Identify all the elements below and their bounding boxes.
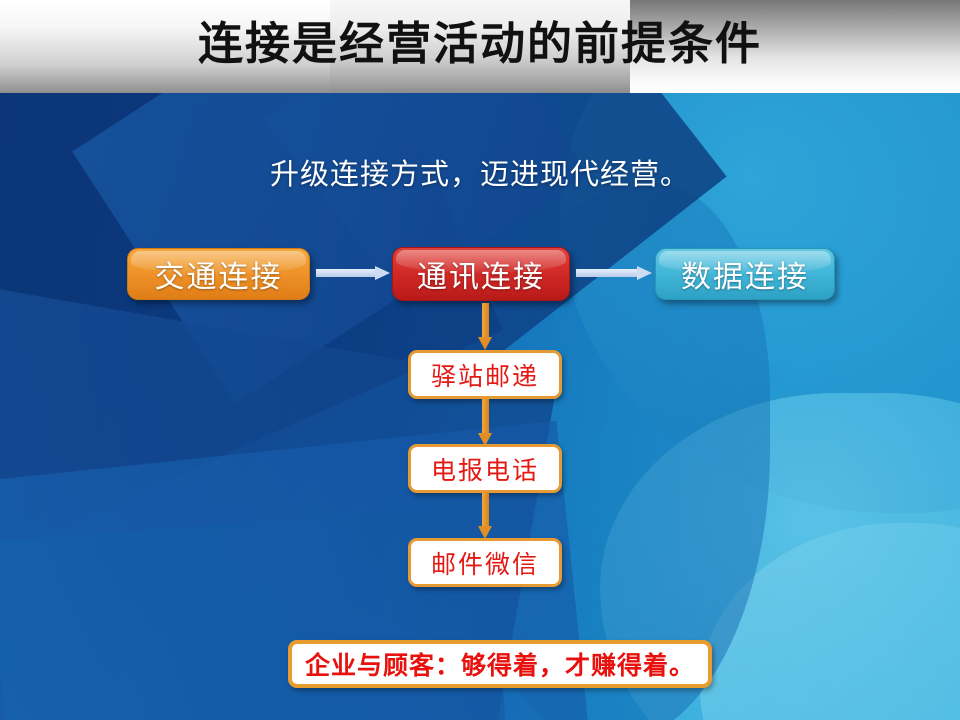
callout-text: 企业与顾客：够得着，才赚得着。 [305, 646, 695, 682]
chain-item-email-wechat-label: 邮件微信 [431, 545, 539, 581]
callout-box: 企业与顾客：够得着，才赚得着。 [288, 640, 712, 688]
flow-node-data-label: 数据连接 [681, 252, 809, 296]
arrow-shaft [482, 303, 489, 337]
arrow-head [375, 266, 390, 280]
arrow-down-icon-2 [478, 399, 492, 446]
subtitle: 升级连接方式，迈进现代经营。 [0, 158, 960, 193]
arrow-down-icon-3 [478, 492, 492, 539]
slide-canvas: 连接是经营活动的前提条件 升级连接方式，迈进现代经营。 交通连接 通讯连接 数据… [0, 0, 960, 720]
title-bar: 连接是经营活动的前提条件 [0, 0, 960, 93]
arrow-shaft [576, 269, 638, 277]
arrow-head [478, 337, 492, 350]
flow-node-traffic[interactable]: 交通连接 [127, 248, 310, 300]
chain-item-telegraph-label: 电报电话 [431, 451, 539, 487]
flow-node-data[interactable]: 数据连接 [655, 248, 835, 300]
page-title: 连接是经营活动的前提条件 [0, 0, 960, 93]
arrow-head [637, 266, 652, 280]
chain-item-telegraph[interactable]: 电报电话 [408, 444, 562, 493]
arrow-shaft [316, 269, 376, 277]
arrow-down-icon-1 [478, 303, 492, 350]
arrow-right-icon-communication-to-data [576, 266, 652, 279]
arrow-shaft [482, 492, 489, 526]
chain-item-post-label: 驿站邮递 [431, 357, 539, 393]
chain-item-email-wechat[interactable]: 邮件微信 [408, 538, 562, 587]
flow-node-traffic-label: 交通连接 [155, 252, 283, 296]
arrow-shaft [482, 399, 489, 433]
arrow-right-icon-traffic-to-communication [316, 266, 390, 279]
chain-item-post[interactable]: 驿站邮递 [408, 350, 562, 399]
flow-node-communication[interactable]: 通讯连接 [392, 247, 570, 301]
flow-node-communication-label: 通讯连接 [417, 252, 545, 296]
